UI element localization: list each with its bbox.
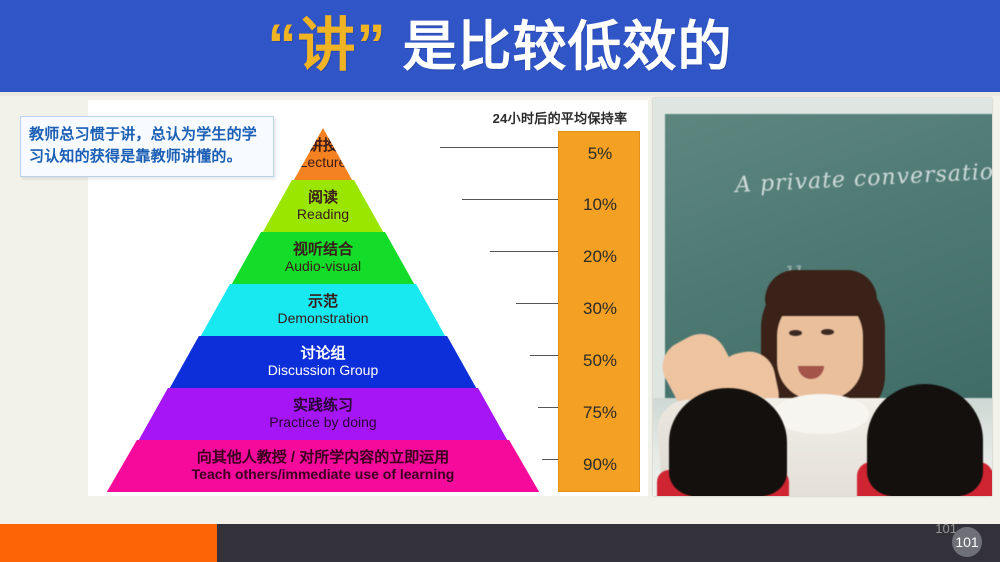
retention-column-header: 24小时后的平均保持率 [476,108,644,127]
connector-line-demonstration [516,303,558,304]
layer-label-cn: 实践练习 [269,398,376,414]
connector-line-teach-others [542,459,558,460]
layer-label-cn: 示范 [277,294,368,310]
percent-value-discussion-group: 50% [559,351,641,371]
page-title: “讲” 是比较低效的 [267,17,732,75]
layer-label-en: Lecture [300,155,347,170]
chalk-text-line-1: A private conversation [735,159,992,198]
layer-label-cn: 视听结合 [285,242,361,258]
footer-bar [0,524,1000,562]
layer-label-cn: 向其他人教授 / 对所学内容的立即运用 [192,450,455,466]
layer-label-cn: 讲授 [300,138,347,154]
percent-value-practice: 75% [559,403,641,423]
callout-text: 教师总习惯于讲，总认为学生的学习认知的获得是靠教师讲懂的。 [29,124,265,168]
pyramid-layer-demonstration[interactable]: 示范 Demonstration [88,284,558,336]
pyramid-layer-reading[interactable]: 阅读 Reading [88,180,558,232]
photo-content: A private conversation lly ion [653,98,992,496]
percent-value-demonstration: 30% [559,299,641,319]
classroom-photo: A private conversation lly ion [653,98,992,496]
layer-label-en: Audio-visual [285,259,361,274]
banner-divider [0,92,1000,96]
slide-canvas: “讲” 是比较低效的 24小时后的平均保持率 讲授 Lecture 阅读 [0,0,1000,562]
percent-value-audio-visual: 20% [559,247,641,267]
layer-label-cn: 阅读 [297,190,349,206]
connector-line-discussion-group [530,355,558,356]
percent-value-teach-others: 90% [559,455,641,475]
layer-label-en: Practice by doing [269,415,376,430]
title-main-text: 是比较低效的 [403,20,733,74]
teacher-eye-right [821,329,834,335]
percent-value-reading: 10% [559,195,641,215]
layer-label-en: Reading [297,207,349,222]
layer-label-en: Demonstration [277,311,368,326]
callout-textbox: 教师总习惯于讲，总认为学生的学习认知的获得是靠教师讲懂的。 [20,116,274,177]
teacher-collar [773,394,869,434]
pyramid-layer-teach-others[interactable]: 向其他人教授 / 对所学内容的立即运用 Teach others/immedia… [88,440,558,492]
layer-label-en: Teach others/immediate use of learning [192,467,455,482]
teacher-eye-left [789,330,802,336]
pyramid-layer-audio-visual[interactable]: 视听结合 Audio-visual [88,232,558,284]
connector-line-reading [462,199,558,200]
percent-value-lecture: 5% [559,144,641,164]
pyramid-layers: 讲授 Lecture 阅读 Reading 视听结合 Audio-visual … [88,128,558,492]
connector-line-practice-by-doing [538,407,558,408]
connector-line-audiovisual [490,251,558,252]
page-number-badge: 101 [952,527,982,557]
connector-line-lecture [440,147,558,148]
layer-label-en: Discussion Group [268,363,379,378]
footer-accent-block [0,524,217,562]
layer-label-cn: 讨论组 [268,346,379,362]
student-head-right [867,384,983,496]
teacher-fringe [765,270,877,316]
title-banner: “讲” 是比较低效的 [0,0,1000,92]
retention-percent-column: 5% 10% 20% 30% 50% 75% 90% [558,131,640,492]
title-accent-text: “讲” [267,17,386,75]
pyramid-layer-discussion-group[interactable]: 讨论组 Discussion Group [88,336,558,388]
pyramid-layer-practice-by-doing[interactable]: 实践练习 Practice by doing [88,388,558,440]
student-head-left [669,388,787,496]
